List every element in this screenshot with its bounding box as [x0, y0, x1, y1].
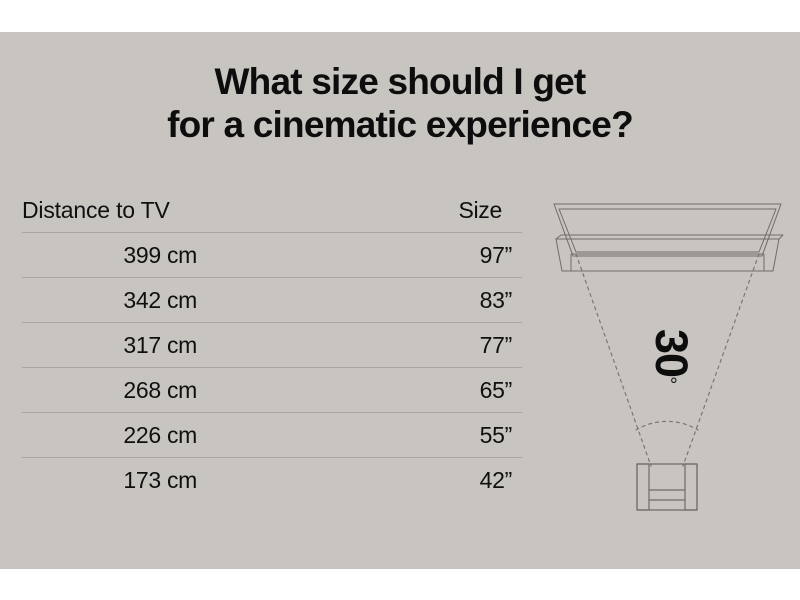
column-header-distance: Distance to TV	[22, 197, 252, 224]
table-header-row: Distance to TV Size	[22, 190, 522, 232]
angle-arc	[636, 421, 698, 430]
page-title-line-2: for a cinematic experience?	[0, 103, 800, 146]
cell-distance: 226 cm	[22, 422, 197, 449]
cell-size: 65”	[197, 377, 522, 404]
cell-distance: 173 cm	[22, 467, 197, 494]
screenshot-stage: What size should I get for a cinematic e…	[0, 0, 800, 600]
cell-distance: 317 cm	[22, 332, 197, 359]
sofa-icon	[637, 464, 697, 510]
cell-size: 42”	[197, 467, 522, 494]
column-header-size: Size	[252, 197, 522, 224]
cell-distance: 268 cm	[22, 377, 197, 404]
cell-size: 55”	[197, 422, 522, 449]
viewing-angle-diagram	[540, 192, 795, 522]
viewing-angle-dashed-lines	[576, 254, 759, 466]
cell-distance: 342 cm	[22, 287, 197, 314]
table-row: 317 cm 77”	[22, 322, 522, 367]
cell-size: 83”	[197, 287, 522, 314]
table-row: 173 cm 42”	[22, 457, 522, 502]
tv-stand-icon	[556, 235, 783, 271]
table-row: 399 cm 97”	[22, 232, 522, 277]
tv-icon	[554, 204, 781, 256]
page-title: What size should I get for a cinematic e…	[0, 60, 800, 147]
content-panel: What size should I get for a cinematic e…	[0, 32, 800, 569]
table-row: 226 cm 55”	[22, 412, 522, 457]
size-table: Distance to TV Size 399 cm 97” 342 cm 83…	[22, 190, 522, 502]
table-row: 342 cm 83”	[22, 277, 522, 322]
viewing-angle-diagram-svg	[540, 192, 795, 522]
page-title-line-1: What size should I get	[0, 60, 800, 103]
cell-size: 77”	[197, 332, 522, 359]
cell-distance: 399 cm	[22, 242, 197, 269]
table-row: 268 cm 65”	[22, 367, 522, 412]
cell-size: 97”	[197, 242, 522, 269]
